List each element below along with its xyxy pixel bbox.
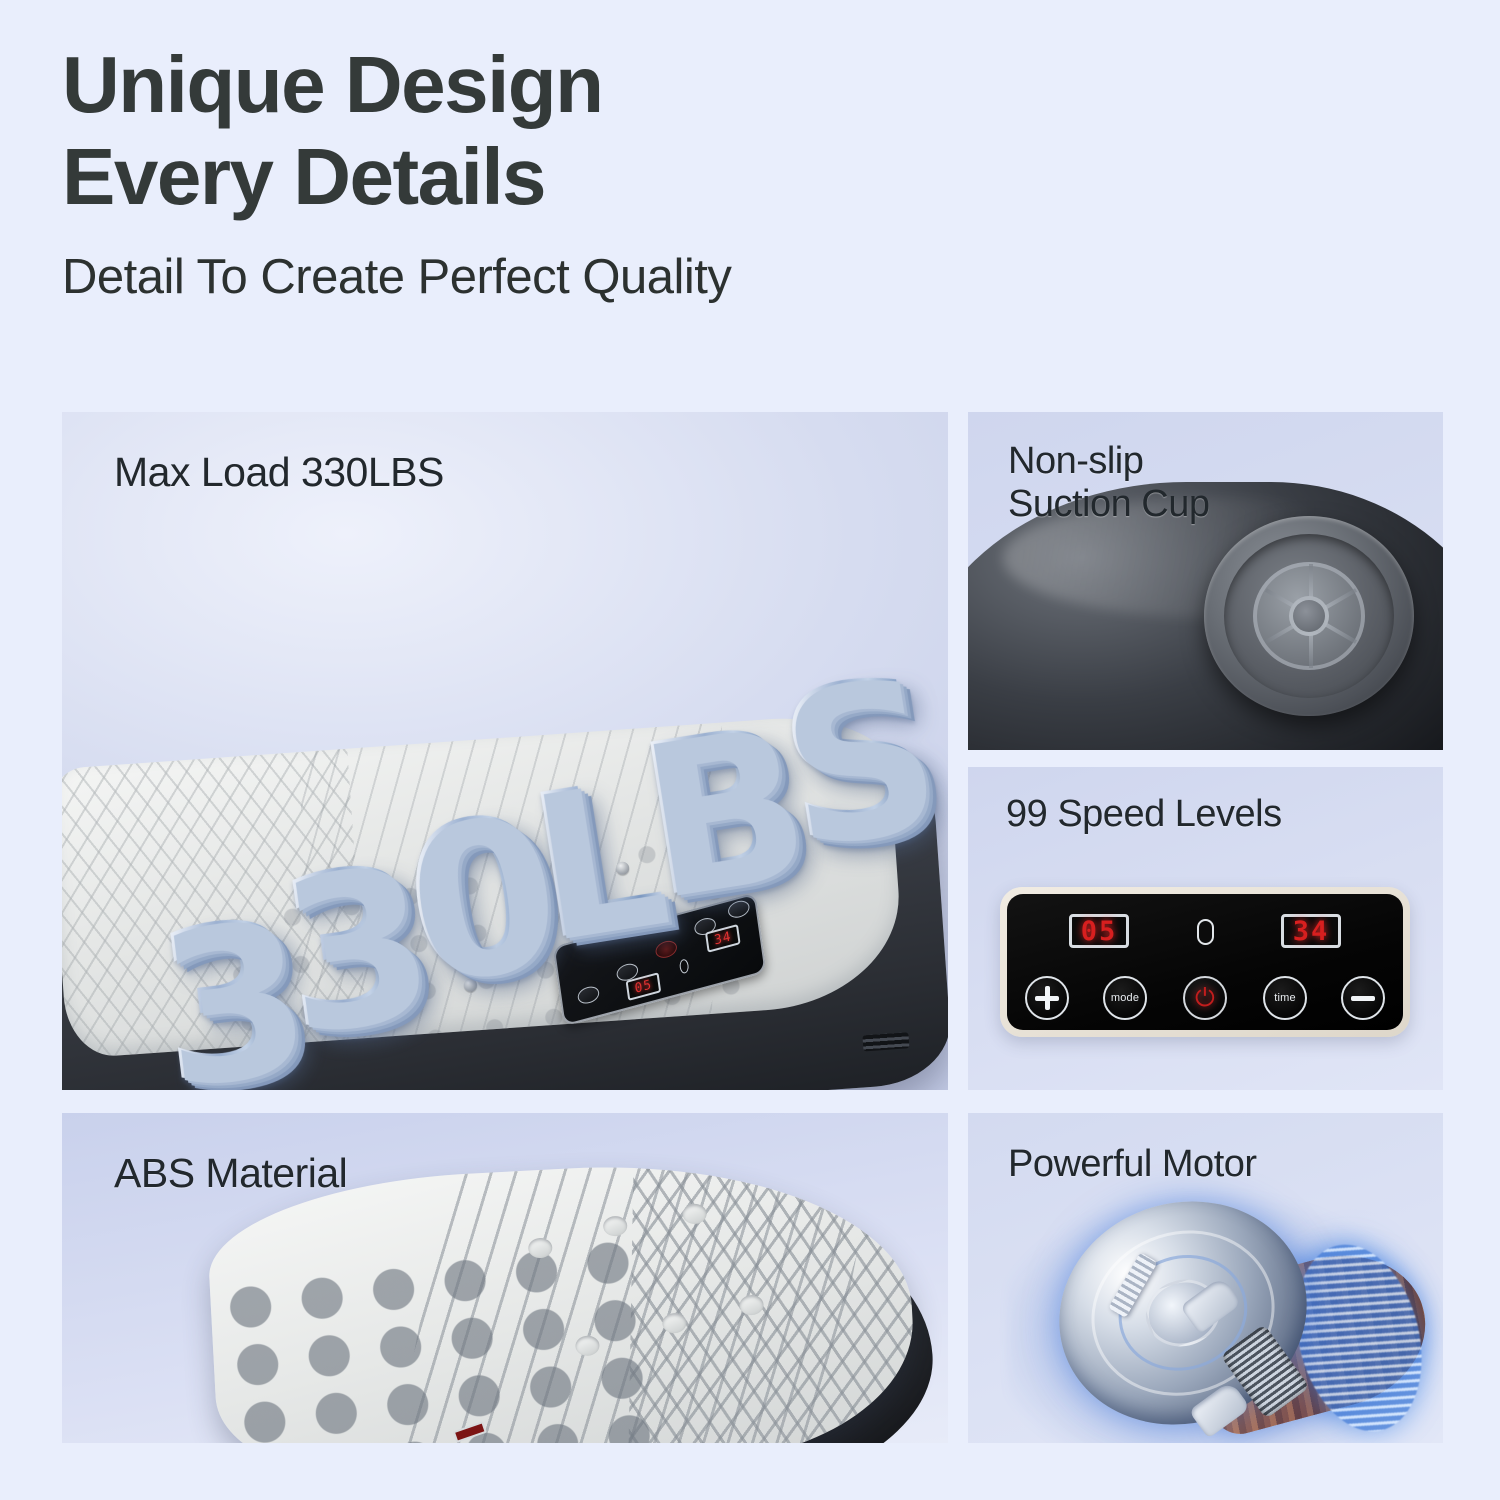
machine-indicator-light — [679, 958, 690, 974]
control-panel-screen: 05 34 mode ⏻ time — [1007, 894, 1403, 1030]
panel-label-abs-material: ABS Material — [114, 1151, 347, 1197]
page-title-line-2: Every Details — [62, 138, 1062, 216]
plate-hole — [603, 1215, 628, 1236]
page-subtitle: Detail To Create Perfect Quality — [62, 249, 1062, 305]
plate-hole — [739, 1294, 764, 1315]
power-button[interactable]: ⏻ — [1183, 976, 1227, 1020]
plate-hole — [528, 1237, 553, 1258]
plate-hole — [662, 1313, 687, 1334]
plus-button[interactable] — [1025, 976, 1069, 1020]
feature-panel-abs-material: ABS Material — [62, 1113, 948, 1443]
plate-hole-group — [506, 1194, 849, 1443]
power-icon: ⏻ — [1195, 986, 1215, 1011]
page-title-line-1: Unique Design — [62, 46, 1062, 124]
minus-button[interactable] — [1341, 976, 1385, 1020]
chrome-char: S — [767, 647, 948, 878]
machine-minus-button[interactable] — [577, 984, 600, 1006]
feature-panel-max-load: 05 34 3 3 0 L B S Max Load 330LBS — [62, 412, 948, 1090]
suction-cup-mid-ring — [1224, 534, 1394, 698]
speed-display-left: 05 — [1069, 914, 1129, 948]
panel-label-suction-cup: Non-slip Suction Cup — [1008, 440, 1210, 525]
panel-label-speed-levels: 99 Speed Levels — [1006, 793, 1282, 836]
feature-panel-powerful-motor: Powerful Motor — [968, 1113, 1443, 1443]
suction-cup-foot — [1204, 516, 1414, 716]
time-button[interactable]: time — [1263, 976, 1307, 1020]
page-header: Unique Design Every Details Detail To Cr… — [62, 46, 1062, 305]
plate-hole — [575, 1335, 600, 1356]
feature-panel-suction-cup: Non-slip Suction Cup — [968, 412, 1443, 750]
mode-button[interactable]: mode — [1103, 976, 1147, 1020]
suction-cup-face — [1253, 562, 1365, 670]
panel-label-powerful-motor: Powerful Motor — [1008, 1143, 1257, 1186]
control-panel-bezel: 05 34 mode ⏻ time — [1000, 887, 1410, 1037]
max-load-illustration: 05 34 3 3 0 L B S — [62, 412, 948, 1090]
feature-panel-speed-levels: 05 34 mode ⏻ time 99 Speed Levels — [968, 767, 1443, 1090]
speed-display-right: 34 — [1281, 914, 1341, 948]
panel-label-max-load: Max Load 330LBS — [114, 450, 444, 496]
plate-hole — [682, 1203, 707, 1224]
status-indicator-light — [1197, 919, 1214, 945]
suction-cup-hub — [1289, 596, 1329, 636]
